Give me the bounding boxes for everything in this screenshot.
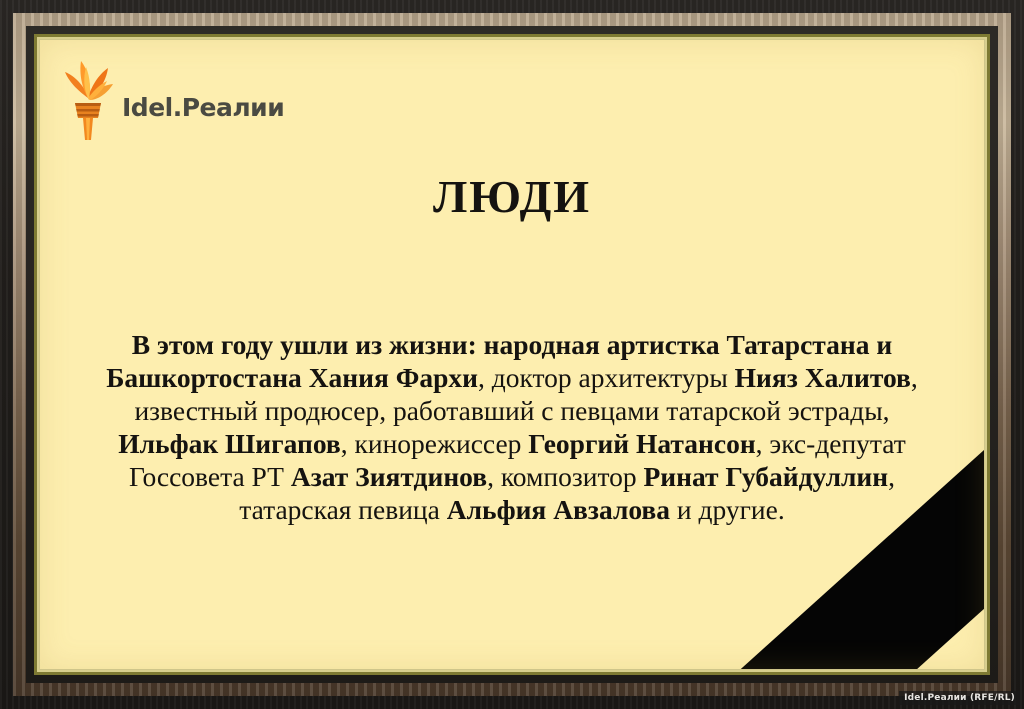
body-segment-7: Георгий Натансон (528, 428, 755, 459)
body-segment-1: Хания Фархи (309, 362, 478, 393)
watermark-credit: Idel.Реалии (RFE/RL) (899, 691, 1020, 705)
logo-wordmark: Idel.Реалии (122, 93, 284, 122)
body-segment-2: , доктор архитектуры (478, 362, 735, 393)
picture-frame-outer: Idel.Реалии ЛЮДИ В этом году ушли из жиз… (0, 0, 1024, 709)
memorial-body-text: В этом году ушли из жизни: народная арти… (82, 328, 942, 526)
body-segment-6: , кинорежиссер (341, 428, 529, 459)
body-segment-9: Азат Зиятдинов (291, 461, 487, 492)
body-segment-3: Нияз Халитов (735, 362, 911, 393)
body-segment-13: Альфия Авзалова (447, 494, 670, 525)
body-segment-11: Ринат Губайдуллин (644, 461, 889, 492)
memorial-card: Idel.Реалии ЛЮДИ В этом году ушли из жиз… (40, 40, 984, 669)
body-segment-5: Ильфак Шигапов (118, 428, 341, 459)
body-segment-14: и другие. (670, 494, 785, 525)
brand-logo: Idel.Реалии (62, 58, 284, 142)
torch-flame-icon (62, 58, 114, 142)
page-title: ЛЮДИ (40, 170, 984, 223)
body-segment-10: , композитор (487, 461, 643, 492)
